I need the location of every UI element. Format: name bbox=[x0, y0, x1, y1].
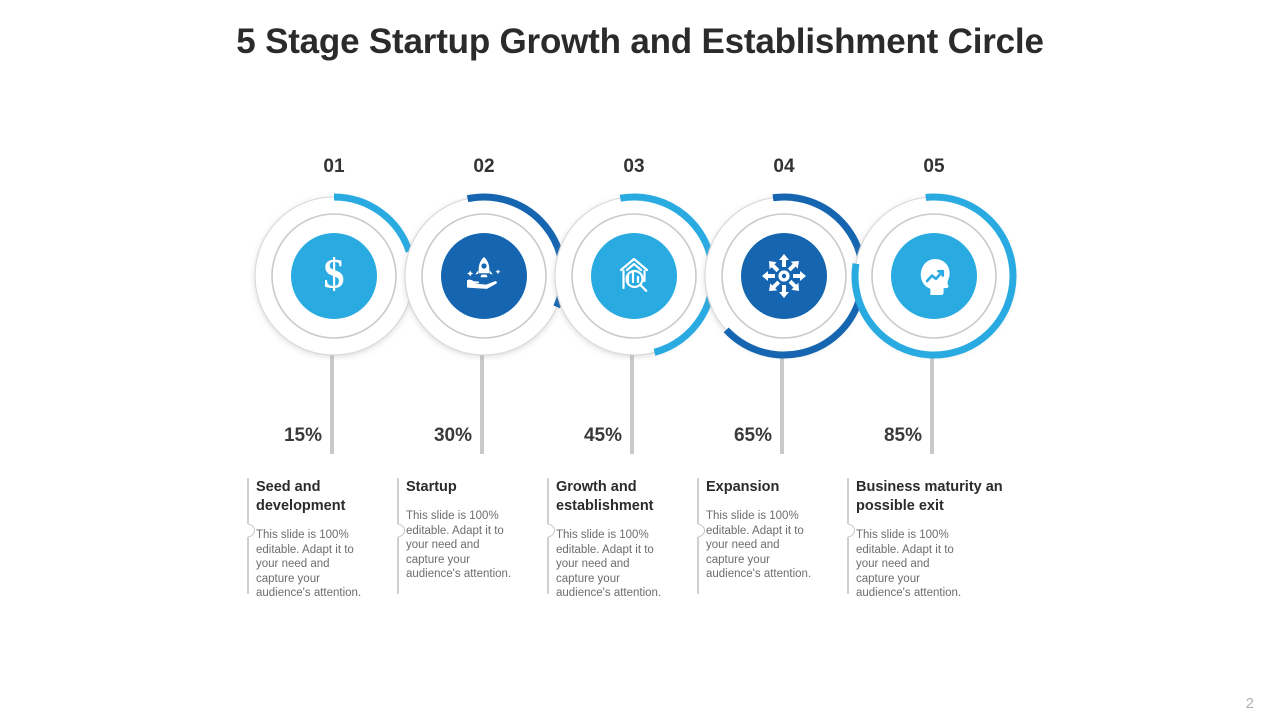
svg-text:$: $ bbox=[324, 252, 345, 298]
stage-bullet-marker-icon bbox=[539, 521, 557, 539]
page-number: 2 bbox=[1246, 695, 1254, 712]
stage-bullet-marker-icon bbox=[389, 521, 407, 539]
stage-body-text: This slide is 100% editable. Adapt it to… bbox=[706, 509, 814, 582]
stage-heading: Business maturity an possible exit bbox=[856, 478, 1036, 516]
stage-diagram: 01$15%Seed and developmentThis slide is … bbox=[0, 0, 1280, 720]
dollar-sign-icon: $ bbox=[324, 252, 345, 298]
stage-body-text: This slide is 100% editable. Adapt it to… bbox=[406, 509, 514, 582]
stage-text-block: Business maturity an possible exitThis s… bbox=[842, 478, 1052, 601]
stage-percent-label: 45% bbox=[526, 425, 622, 447]
stage-number-label: 05 bbox=[834, 156, 1034, 178]
stage-body-text: This slide is 100% editable. Adapt it to… bbox=[256, 528, 364, 601]
stage-percent-label: 15% bbox=[226, 425, 322, 447]
stage-percent-label: 30% bbox=[376, 425, 472, 447]
stage-percent-label: 85% bbox=[826, 425, 922, 447]
stage-column-05: 0585%Business maturity an possible exitT… bbox=[834, 0, 1034, 720]
stage-percent-label: 65% bbox=[676, 425, 772, 447]
stage-bullet-marker-icon bbox=[839, 521, 857, 539]
stage-circle-05[interactable] bbox=[850, 192, 1018, 360]
stage-bullet-marker-icon bbox=[689, 521, 707, 539]
stage-body-text: This slide is 100% editable. Adapt it to… bbox=[856, 528, 964, 601]
stage-body-text: This slide is 100% editable. Adapt it to… bbox=[556, 528, 664, 601]
stage-bullet-marker-icon bbox=[239, 521, 257, 539]
